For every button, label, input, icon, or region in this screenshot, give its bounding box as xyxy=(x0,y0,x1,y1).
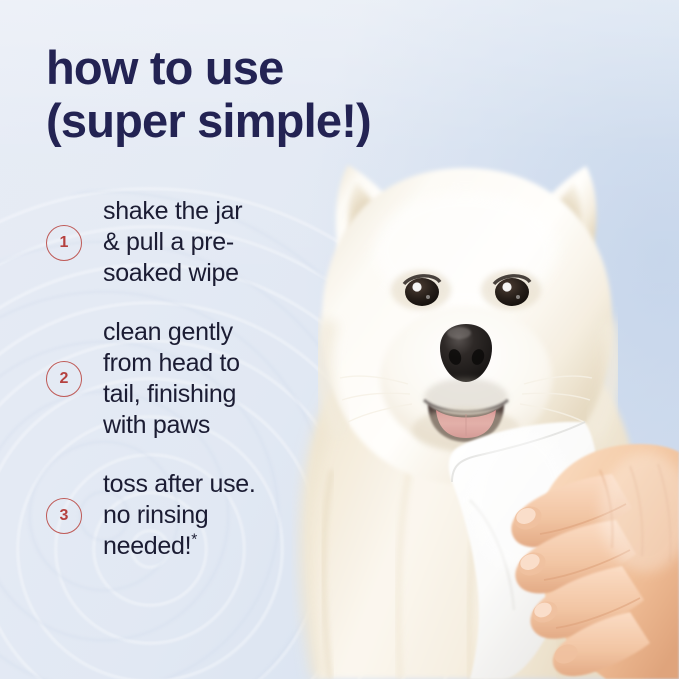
page-title-line-1: how to use xyxy=(46,41,606,94)
step-item-3: 3 toss after use. no rinsing needed!* xyxy=(46,469,314,562)
step-number-badge-3: 3 xyxy=(46,498,82,534)
step-1-line-1: shake the jar xyxy=(103,196,242,227)
step-number-badge-1: 1 xyxy=(46,225,82,261)
step-item-2: 2 clean gently from head to tail, finish… xyxy=(46,317,314,441)
step-3-line-1: toss after use. xyxy=(103,469,256,500)
step-2-line-2: from head to xyxy=(103,348,240,379)
step-2-line-3: tail, finishing xyxy=(103,379,240,410)
page-title-line-2: (super simple!) xyxy=(46,94,606,147)
step-3-line-2: no rinsing xyxy=(103,500,256,531)
how-to-use-infographic: how to use (super simple!) 1 shake the j… xyxy=(0,0,679,679)
step-3-line-3: needed!* xyxy=(103,531,256,562)
step-text-2: clean gently from head to tail, finishin… xyxy=(103,317,240,441)
step-text-3: toss after use. no rinsing needed!* xyxy=(103,469,256,562)
step-1-line-2: & pull a pre- xyxy=(103,227,242,258)
steps-list: 1 shake the jar & pull a pre- soaked wip… xyxy=(46,196,314,562)
page-title: how to use (super simple!) xyxy=(46,41,606,147)
step-1-line-3: soaked wipe xyxy=(103,258,242,289)
step-number-badge-2: 2 xyxy=(46,361,82,397)
step-2-line-4: with paws xyxy=(103,410,240,441)
step-item-1: 1 shake the jar & pull a pre- soaked wip… xyxy=(46,196,314,289)
step-2-line-1: clean gently xyxy=(103,317,240,348)
step-3-line-3-text: needed! xyxy=(103,532,191,560)
step-text-1: shake the jar & pull a pre- soaked wipe xyxy=(103,196,242,289)
footnote-marker: * xyxy=(191,532,197,549)
